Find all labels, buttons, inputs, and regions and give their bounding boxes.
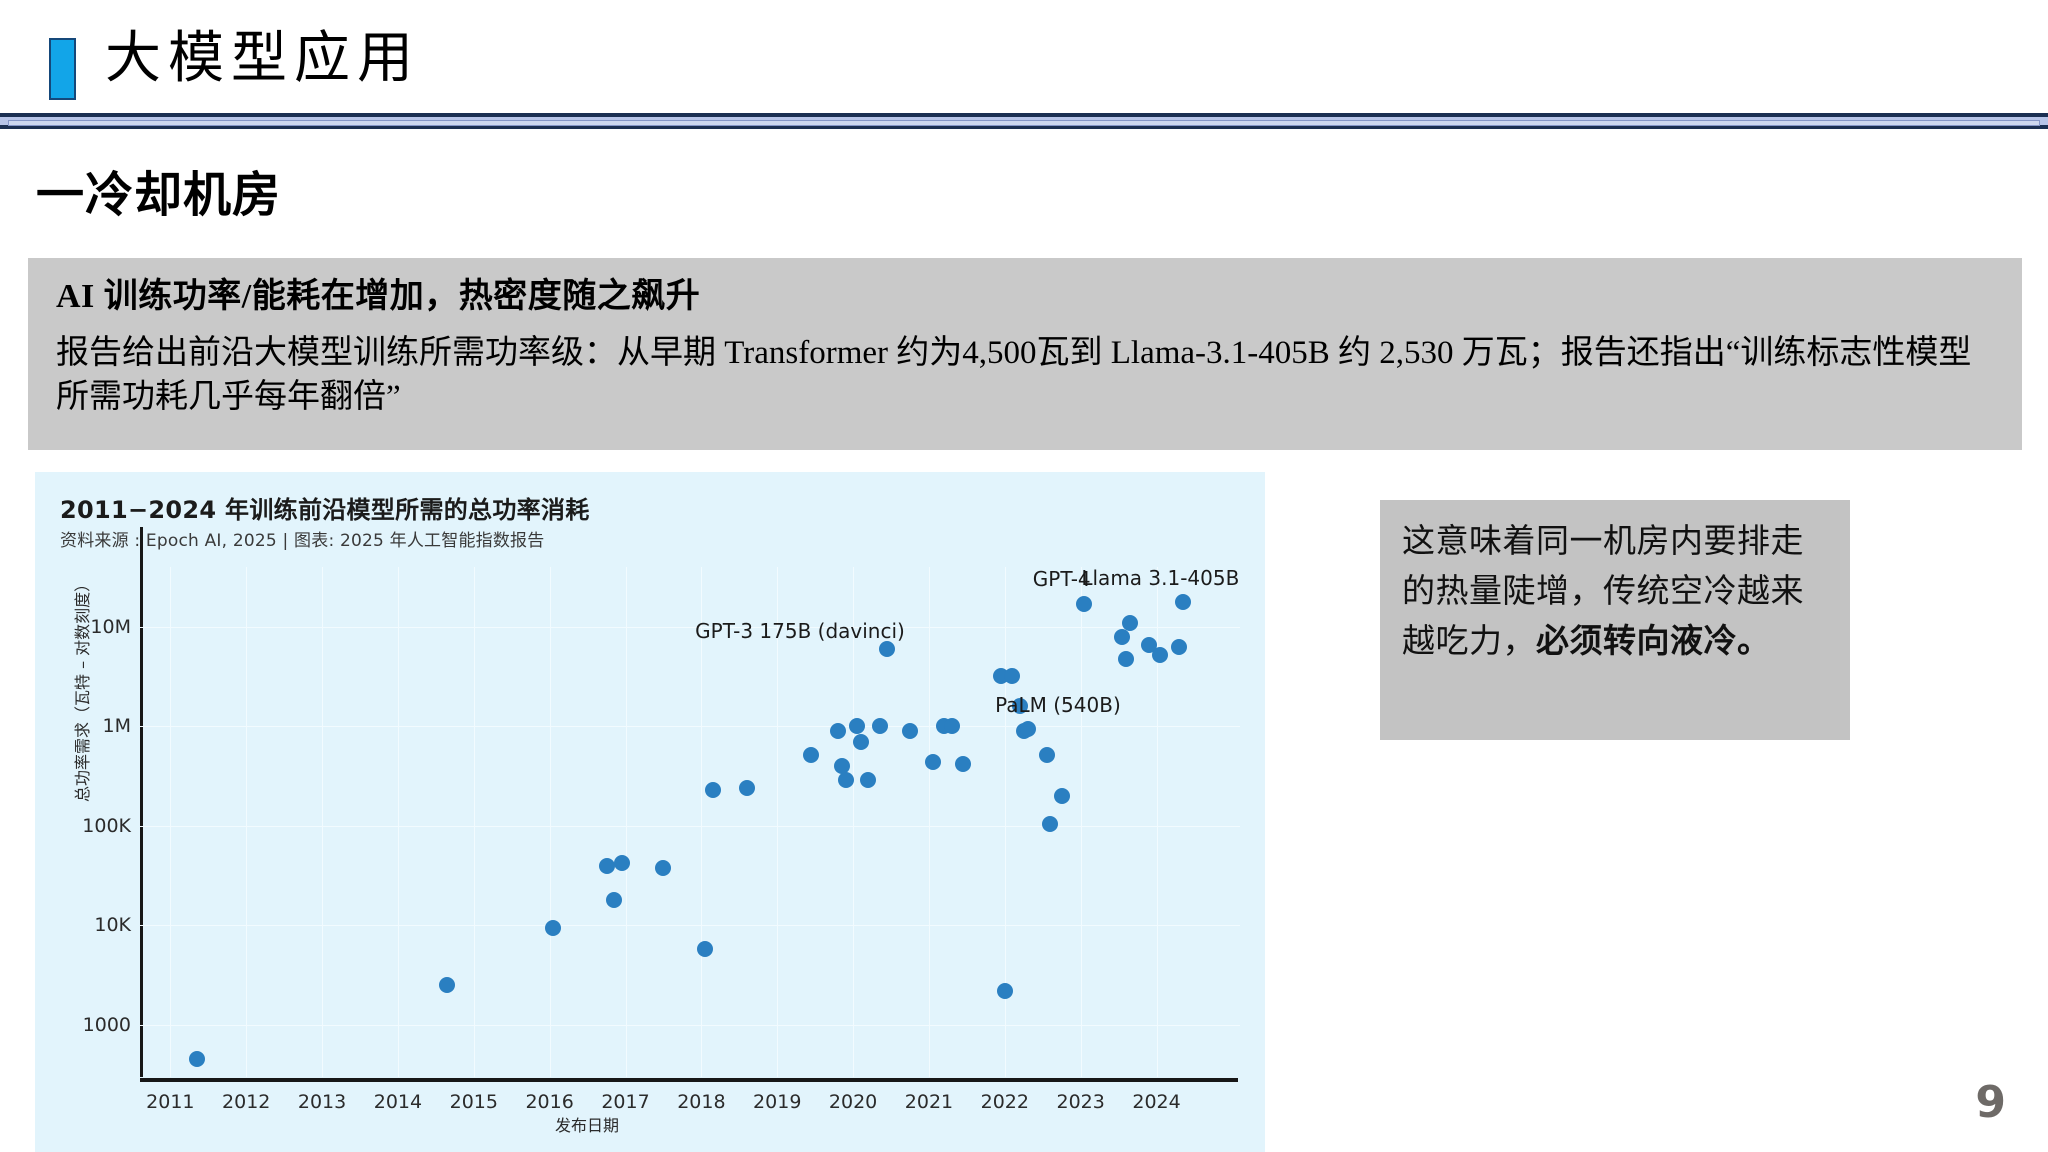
chart-data-point — [838, 772, 854, 788]
callout-side-emphasis: 必须转向液冷。 — [1536, 621, 1771, 660]
chart-x-tick-label: 2014 — [374, 1091, 422, 1113]
chart-gridline-vertical — [777, 567, 778, 1077]
callout-top-body: 报告给出前沿大模型训练所需功率级：从早期 Transformer 约为4,500… — [56, 331, 1994, 420]
chart-x-tick-label: 2024 — [1132, 1091, 1180, 1113]
chart-x-tick-label: 2019 — [753, 1091, 801, 1113]
chart-data-point — [853, 734, 869, 750]
chart-gridline-horizontal — [140, 726, 1240, 727]
title-accent-bar — [49, 38, 76, 100]
chart-y-axis-line — [140, 527, 143, 1077]
chart-data-point — [545, 920, 561, 936]
section-subtitle: 一冷却机房 — [36, 155, 281, 225]
chart-data-point — [1076, 596, 1092, 612]
chart-data-point — [439, 977, 455, 993]
chart-data-point — [1122, 615, 1138, 631]
header-divider-inner — [8, 120, 2040, 126]
chart-gridline-vertical — [853, 567, 854, 1077]
chart-x-tick-label: 2012 — [222, 1091, 270, 1113]
chart-y-tick-label: 100K — [82, 815, 131, 837]
chart-gridline-vertical — [550, 567, 551, 1077]
header-divider — [0, 113, 2048, 129]
chart-plot-area: 2011201220132014201520162017201820192020… — [140, 567, 1240, 1077]
chart-panel: 2011−2024 年训练前沿模型所需的总功率消耗 资料来源 : Epoch A… — [35, 472, 1265, 1152]
chart-gridline-vertical — [322, 567, 323, 1077]
chart-data-point — [739, 780, 755, 796]
chart-gridline-vertical — [474, 567, 475, 1077]
chart-data-point — [997, 983, 1013, 999]
chart-gridline-vertical — [246, 567, 247, 1077]
chart-data-point — [925, 754, 941, 770]
chart-y-tick-label: 1M — [103, 715, 131, 737]
chart-data-point — [189, 1051, 205, 1067]
page-number: 9 — [1975, 1077, 2006, 1128]
chart-gridline-vertical — [170, 567, 171, 1077]
chart-data-point — [655, 860, 671, 876]
chart-data-point — [697, 941, 713, 957]
chart-data-point — [1114, 629, 1130, 645]
chart-x-tick-label: 2013 — [298, 1091, 346, 1113]
chart-x-tick-label: 2020 — [829, 1091, 877, 1113]
chart-gridline-horizontal — [140, 826, 1240, 827]
chart-x-tick-label: 2011 — [146, 1091, 194, 1113]
callout-side: 这意味着同一机房内要排走的热量陡增，传统空冷越来越吃力，必须转向液冷。 — [1380, 500, 1850, 740]
chart-gridline-vertical — [929, 567, 930, 1077]
chart-data-point — [1171, 639, 1187, 655]
chart-gridline-vertical — [1081, 567, 1082, 1077]
chart-data-point — [955, 756, 971, 772]
slide-header: 大模型应用 — [0, 0, 2048, 128]
chart-gridline-horizontal — [140, 925, 1240, 926]
chart-x-tick-label: 2022 — [981, 1091, 1029, 1113]
chart-data-point — [1054, 788, 1070, 804]
chart-y-tick-label: 10K — [94, 914, 131, 936]
chart-data-point — [1118, 651, 1134, 667]
chart-x-tick-label: 2021 — [905, 1091, 953, 1113]
chart-data-point — [599, 858, 615, 874]
chart-gridline-vertical — [1005, 567, 1006, 1077]
chart-point-annotation: Llama 3.1-405B — [1081, 566, 1239, 590]
chart-data-point — [944, 718, 960, 734]
chart-data-point — [614, 855, 630, 871]
chart-x-tick-label: 2023 — [1057, 1091, 1105, 1113]
chart-x-tick-label: 2016 — [525, 1091, 573, 1113]
chart-data-point — [606, 892, 622, 908]
callout-top: AI 训练功率/能耗在增加，热密度随之飙升 报告给出前沿大模型训练所需功率级：从… — [28, 258, 2022, 450]
chart-data-point — [1020, 721, 1036, 737]
chart-data-point — [860, 772, 876, 788]
chart-gridline-horizontal — [140, 627, 1240, 628]
chart-data-point — [1175, 594, 1191, 610]
chart-data-point — [872, 718, 888, 734]
chart-data-point — [830, 723, 846, 739]
chart-gridline-vertical — [626, 567, 627, 1077]
chart-subtitle: 资料来源 : Epoch AI, 2025 | 图表: 2025 年人工智能指数… — [60, 526, 544, 551]
chart-data-point — [1039, 747, 1055, 763]
chart-y-tick-label: 1000 — [83, 1014, 131, 1036]
chart-data-point — [803, 747, 819, 763]
page-title: 大模型应用 — [105, 26, 420, 93]
chart-data-point — [849, 718, 865, 734]
chart-data-point — [1152, 647, 1168, 663]
chart-point-annotation: GPT-3 175B (davinci) — [695, 619, 905, 643]
chart-x-tick-label: 2015 — [450, 1091, 498, 1113]
callout-side-text: 这意味着同一机房内要排走的热量陡增，传统空冷越来越吃力，必须转向液冷。 — [1402, 516, 1828, 666]
chart-gridline-vertical — [701, 567, 702, 1077]
chart-y-axis-label: 总功率需求（瓦特 – 对数刻度） — [69, 576, 93, 802]
chart-gridline-horizontal — [140, 1025, 1240, 1026]
chart-x-tick-label: 2018 — [677, 1091, 725, 1113]
chart-data-point — [705, 782, 721, 798]
chart-title: 2011−2024 年训练前沿模型所需的总功率消耗 — [60, 490, 590, 525]
chart-x-axis-label: 发布日期 — [555, 1112, 619, 1136]
chart-point-annotation: PaLM (540B) — [995, 693, 1121, 717]
chart-data-point — [902, 723, 918, 739]
chart-x-axis-line — [140, 1078, 1238, 1082]
callout-top-heading: AI 训练功率/能耗在增加，热密度随之飙升 — [56, 276, 1994, 319]
chart-data-point — [1042, 816, 1058, 832]
chart-data-point — [1004, 668, 1020, 684]
chart-x-tick-label: 2017 — [601, 1091, 649, 1113]
chart-gridline-vertical — [398, 567, 399, 1077]
chart-y-tick-label: 10M — [90, 616, 131, 638]
